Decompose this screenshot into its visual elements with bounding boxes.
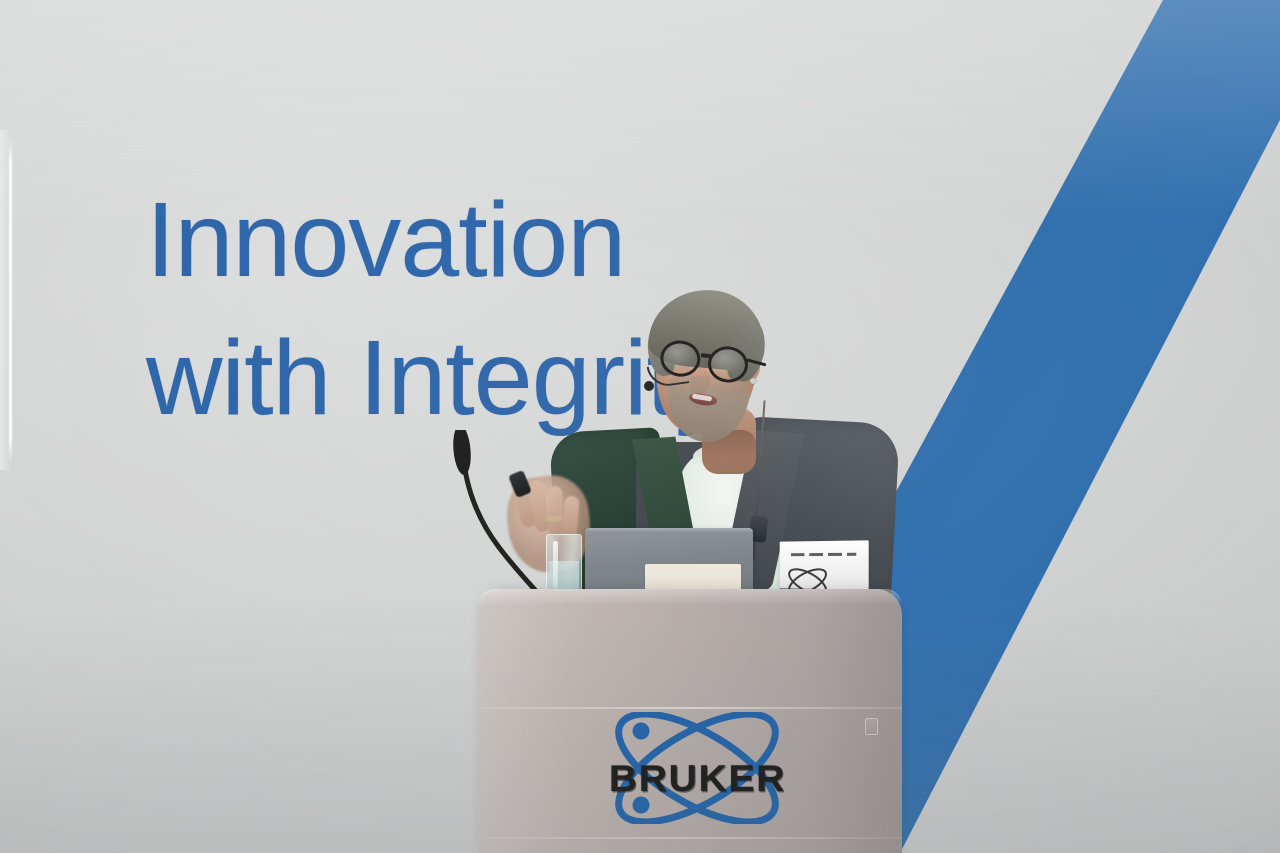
name-card <box>780 540 869 589</box>
glasses-temple <box>746 358 766 366</box>
name-card-text-lines <box>791 553 856 556</box>
glass-highlight <box>553 541 558 589</box>
atom-node-top <box>633 723 650 740</box>
laptop-lid-edge <box>585 528 753 532</box>
presentation-photo-scene: Innovation with Integrity <box>0 0 1280 853</box>
glasses-bridge <box>701 353 712 358</box>
gooseneck-microphone-icon <box>446 430 556 605</box>
boom-capsule <box>644 381 654 391</box>
lectern-seam-lower <box>478 837 902 839</box>
lectern-top-highlight <box>478 589 902 605</box>
lens-right <box>706 344 750 385</box>
headset-boom-mic-icon <box>648 364 690 392</box>
lectern-seam-upper <box>478 707 902 709</box>
bruker-wordmark: BRUKER <box>568 758 828 800</box>
bruker-logo: BRUKER <box>575 712 820 824</box>
speaker-head <box>642 290 770 442</box>
lectern-latch <box>865 718 878 735</box>
